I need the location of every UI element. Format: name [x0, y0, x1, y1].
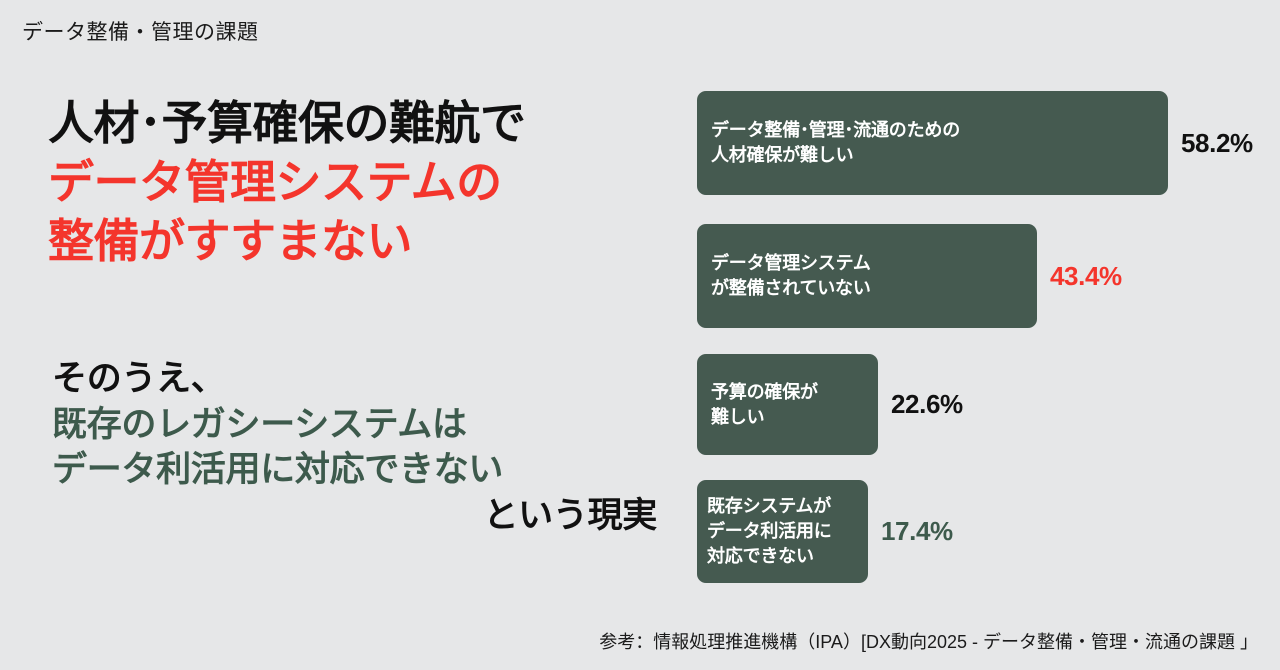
subheadline-line-2: 既存のレガシーシステムは [52, 402, 672, 448]
bar-label-line: 対応できない [707, 544, 868, 569]
bar-label-line: データ整備･管理･流通のための [711, 118, 1168, 143]
bar-row: データ管理システム が整備されていない 43.4% [697, 224, 1122, 328]
bar-row: 予算の確保が 難しい 22.6% [697, 354, 963, 455]
bar-fill: 予算の確保が 難しい [697, 354, 878, 455]
bar-value-label: 43.4% [1050, 261, 1122, 292]
subheadline-line-1: そのうえ、 [52, 356, 672, 402]
subheadline-line-4: という現実 [52, 493, 657, 539]
bar-value-label: 17.4% [881, 516, 953, 547]
bar-fill: データ管理システム が整備されていない [697, 224, 1037, 328]
bar-label-line: が整備されていない [711, 276, 1037, 301]
bar-fill: データ整備･管理･流通のための 人材確保が難しい [697, 91, 1168, 195]
bar-value-label: 58.2% [1181, 128, 1253, 159]
headline-line-2: データ管理システムの [48, 153, 668, 212]
page-title: データ整備・管理の課題 [22, 16, 259, 46]
bar-label-line: 既存システムが [707, 494, 868, 519]
headline-line-3: 整備がすすまない [48, 212, 668, 271]
subheadline-block: そのうえ、 既存のレガシーシステムは データ利活用に対応できない という現実 [52, 356, 672, 538]
bar-row: 既存システムが データ利活用に 対応できない 17.4% [697, 480, 953, 583]
bar-row: データ整備･管理･流通のための 人材確保が難しい 58.2% [697, 91, 1253, 195]
bar-label-line: 難しい [711, 405, 878, 430]
bar-label-line: データ利活用に [707, 519, 868, 544]
bar-chart: データ整備･管理･流通のための 人材確保が難しい 58.2% データ管理システム… [697, 91, 1257, 591]
headline-line-1: 人材･予算確保の難航で [48, 94, 668, 153]
source-note: 参考：情報処理推進機構（IPA）[DX動向2025 - データ整備・管理・流通の… [0, 628, 1258, 654]
bar-label-line: データ管理システム [711, 251, 1037, 276]
bar-label-line: 予算の確保が [711, 380, 878, 405]
headline-block: 人材･予算確保の難航で データ管理システムの 整備がすすまない [48, 94, 668, 271]
subheadline-line-3: データ利活用に対応できない [52, 447, 672, 493]
bar-label-line: 人材確保が難しい [711, 143, 1168, 168]
bar-fill: 既存システムが データ利活用に 対応できない [697, 480, 868, 583]
bar-value-label: 22.6% [891, 389, 963, 420]
